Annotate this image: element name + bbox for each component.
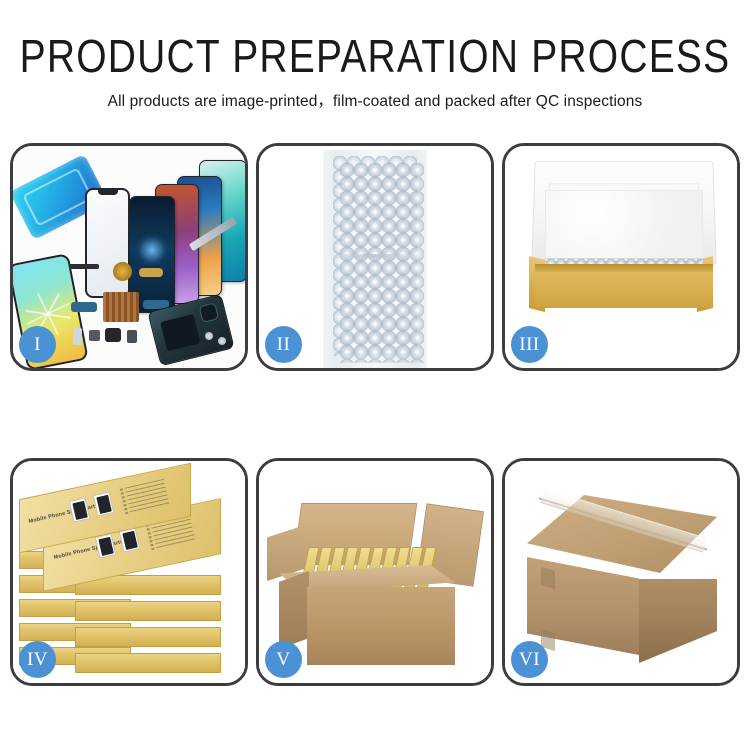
bubble-layer-back [340, 163, 424, 363]
screws-icon [205, 332, 231, 346]
copper-mesh-part [103, 292, 139, 322]
process-step-4: Mobile Phone Spare Parts Mobile Phone Sp… [10, 458, 248, 686]
foam-sheet [545, 190, 703, 262]
step-badge-3: III [511, 326, 548, 363]
step-badge-4: IV [19, 641, 56, 678]
small-part-2 [127, 330, 137, 343]
carton-front [307, 587, 455, 665]
wrap-seam [323, 254, 427, 258]
part-bar [69, 264, 99, 269]
process-step-3: III [502, 143, 740, 371]
sealed-carton-side [639, 579, 717, 663]
camera-module [105, 328, 121, 342]
process-step-1: I [10, 143, 248, 371]
stack-box-edge-7 [75, 627, 221, 647]
kraft-box-body [535, 264, 713, 308]
button-part [73, 328, 82, 345]
stack-box-edge-6 [75, 653, 221, 673]
stack-box-edge-8 [75, 601, 221, 621]
process-step-2: II [256, 143, 494, 371]
step-badge-5: V [265, 641, 302, 678]
carton-side [279, 571, 309, 649]
step-badge-6: VI [511, 641, 548, 678]
step-badge-1: I [19, 326, 56, 363]
process-step-grid: I II III [10, 143, 740, 733]
page-subtitle: All products are image-printed，film-coat… [0, 89, 750, 111]
speaker-module [113, 262, 132, 281]
step-badge-2: II [265, 326, 302, 363]
page-title: PRODUCT PREPARATION PROCESS [0, 34, 750, 80]
small-part-1 [89, 330, 100, 341]
flex-cable-top [139, 268, 163, 277]
flex-cable-left [71, 302, 97, 312]
process-step-5: V [256, 458, 494, 686]
page-header: PRODUCT PREPARATION PROCESS All products… [0, 0, 750, 111]
process-step-6: VI [502, 458, 740, 686]
